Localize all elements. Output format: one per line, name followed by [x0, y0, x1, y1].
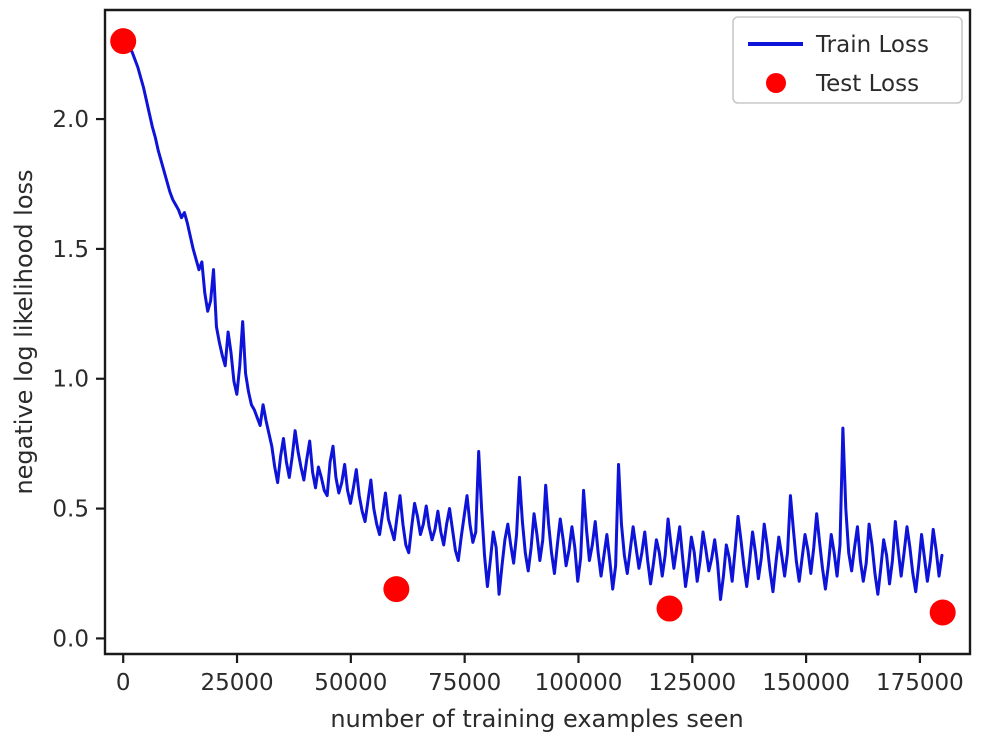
y-axis-label: negative log likelihood loss: [10, 169, 38, 494]
x-axis-label: number of training examples seen: [330, 705, 743, 733]
y-tick-label: 1.5: [52, 237, 89, 263]
legend-dot-swatch: [766, 73, 786, 93]
y-tick-label: 0.0: [52, 626, 89, 652]
x-tick-label: 75000: [428, 670, 501, 696]
y-tick-label: 2.0: [52, 107, 89, 133]
legend-label-test-loss: Test Loss: [815, 71, 919, 97]
legend-label-train-loss: Train Loss: [815, 32, 929, 58]
test-loss-marker: [657, 596, 683, 622]
test-loss-marker: [930, 599, 956, 625]
x-tick-label: 25000: [200, 670, 273, 696]
y-tick-label: 1.0: [52, 367, 89, 393]
loss-chart: 0250005000075000100000125000150000175000…: [0, 0, 985, 745]
test-loss-marker: [383, 576, 409, 602]
x-tick-label: 125000: [648, 670, 736, 696]
y-tick-label: 0.5: [52, 497, 89, 523]
chart-legend[interactable]: Train Loss Test Loss: [733, 17, 962, 103]
figure-canvas: 0250005000075000100000125000150000175000…: [0, 0, 985, 745]
x-tick-label: 175000: [876, 670, 964, 696]
x-tick-label: 0: [116, 670, 131, 696]
x-tick-label: 50000: [314, 670, 387, 696]
test-loss-marker: [110, 28, 136, 54]
x-tick-label: 100000: [535, 670, 623, 696]
x-tick-label: 150000: [762, 670, 850, 696]
